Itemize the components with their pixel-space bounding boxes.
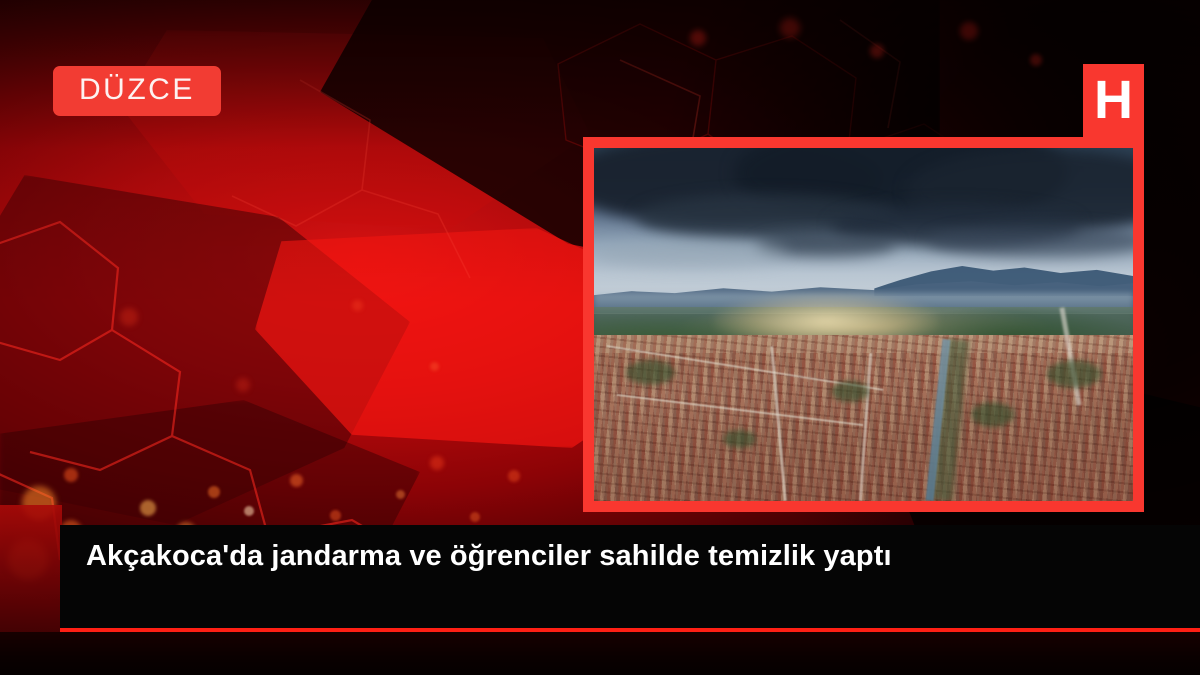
photo-trees: [971, 402, 1014, 427]
bottom-dark-strip: [0, 632, 1200, 675]
headline-text: Akçakoca'da jandarma ve öğrenciler sahil…: [86, 538, 1176, 575]
photo-trees: [626, 360, 675, 385]
photo-cloud: [594, 240, 788, 268]
headline-panel: Akçakoca'da jandarma ve öğrenciler sahil…: [60, 525, 1200, 628]
news-card: DÜZCE: [0, 0, 1200, 675]
photo-trees: [1047, 360, 1101, 388]
brand-logo[interactable]: H: [1083, 64, 1144, 148]
brand-logo-letter-icon: H: [1083, 73, 1144, 127]
photo-trees: [831, 381, 869, 402]
city-badge[interactable]: DÜZCE: [53, 66, 221, 116]
photo-trees: [723, 430, 755, 448]
article-photo[interactable]: [594, 148, 1133, 501]
photo-frame: [583, 137, 1144, 512]
